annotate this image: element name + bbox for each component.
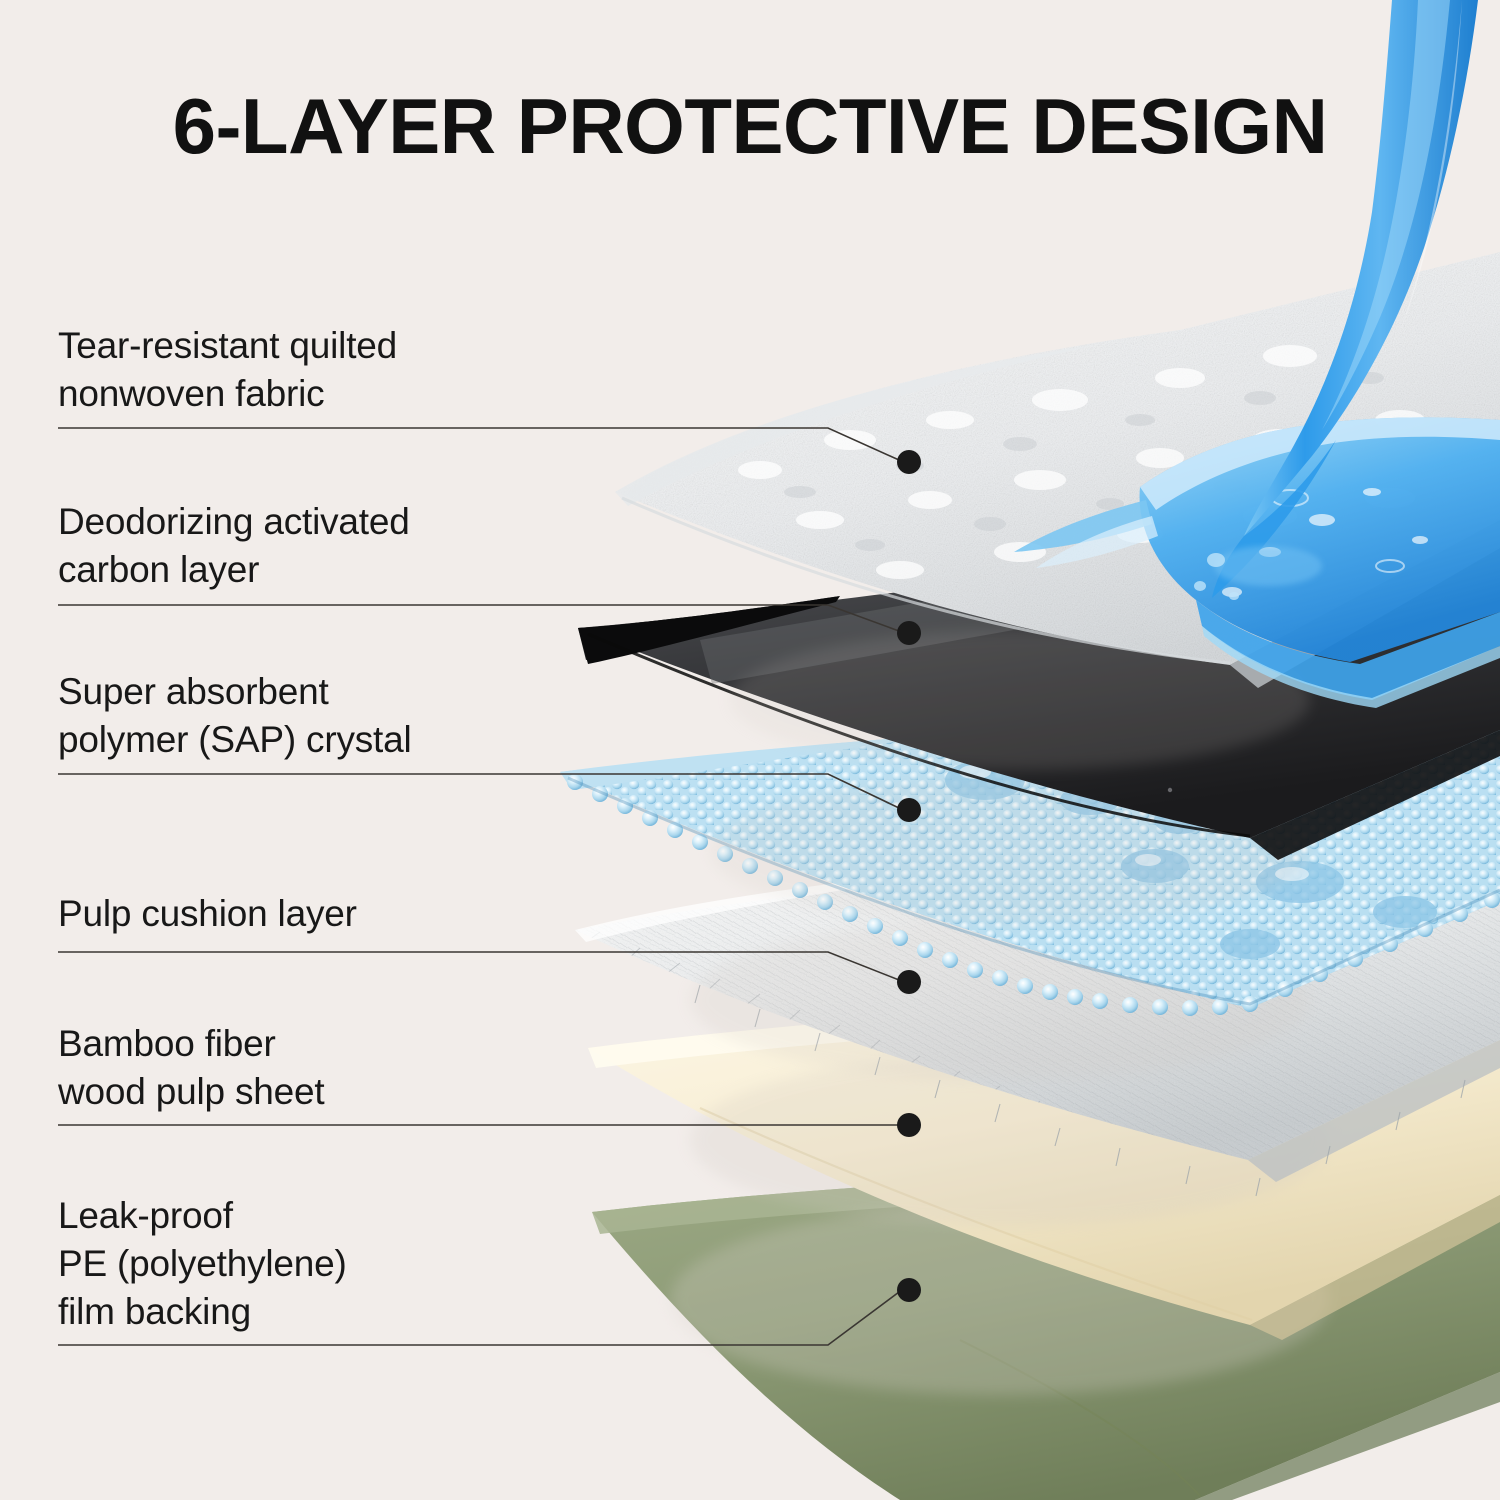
layer-label-list: Tear-resistant quilted nonwoven fabric D… (0, 0, 600, 1500)
layer-label-6-text: Leak-proof PE (polyethylene) film backin… (58, 1192, 578, 1336)
layer-dot-3 (897, 798, 921, 822)
layer-label-3: Super absorbent polymer (SAP) crystal (58, 668, 578, 764)
layer-label-2-text: Deodorizing activated carbon layer (58, 498, 578, 594)
layer-dot-6 (897, 1278, 921, 1302)
layer-pulp-cushion (540, 780, 1500, 1196)
layer-label-1-text: Tear-resistant quilted nonwoven fabric (58, 322, 578, 418)
layer-label-2: Deodorizing activated carbon layer (58, 498, 578, 594)
layer-label-5: Bamboo fiber wood pulp sheet (58, 1020, 578, 1116)
page-title: 6-LAYER PROTECTIVE DESIGN (0, 86, 1500, 168)
layer-label-3-text: Super absorbent polymer (SAP) crystal (58, 668, 578, 764)
layer-nonwoven-fabric (580, 240, 1500, 688)
layer-dot-2 (897, 621, 921, 645)
layer-sap-crystal (530, 640, 1500, 1040)
layer-dot-1 (897, 450, 921, 474)
layer-label-4: Pulp cushion layer (58, 890, 578, 938)
layer-label-5-text: Bamboo fiber wood pulp sheet (58, 1020, 578, 1116)
layer-label-6: Leak-proof PE (polyethylene) film backin… (58, 1192, 578, 1336)
layer-label-1: Tear-resistant quilted nonwoven fabric (58, 322, 578, 418)
layer-dot-4 (897, 970, 921, 994)
layer-activated-carbon (578, 498, 1500, 860)
infographic-root: 6-LAYER PROTECTIVE DESIGN Tear-resistant… (0, 0, 1500, 1500)
layer-dot-5 (897, 1113, 921, 1137)
layer-label-4-text: Pulp cushion layer (58, 890, 578, 938)
layer-pe-film-backing (592, 1130, 1500, 1500)
layer-bamboo-wood-pulp (588, 958, 1500, 1340)
